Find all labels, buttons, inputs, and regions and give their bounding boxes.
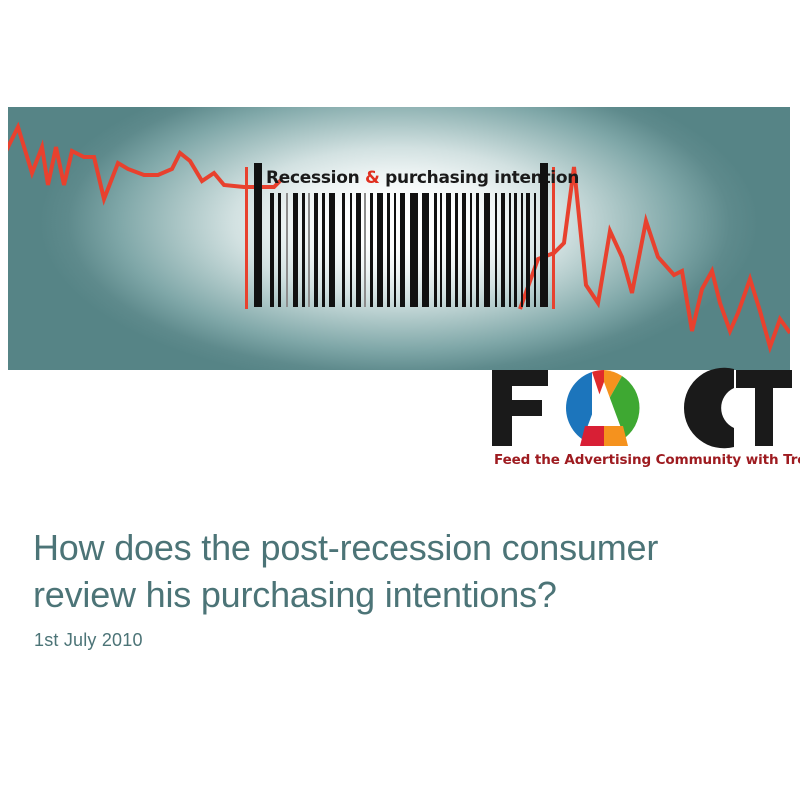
page-date: 1st July 2010 bbox=[34, 630, 143, 651]
barcode-graphic: Recession & purchasing intention bbox=[242, 161, 558, 309]
fact-logo: Feed the Advertising Community with Tren… bbox=[488, 366, 794, 478]
barcode-guard-left-icon bbox=[245, 167, 248, 309]
chart-line-left bbox=[8, 127, 282, 199]
fact-logo-tagline: Feed the Advertising Community with Tren… bbox=[494, 452, 794, 468]
page-title-line-2: review his purchasing intentions? bbox=[33, 571, 763, 618]
barcode-bars bbox=[250, 163, 550, 307]
logo-letter-a-icon bbox=[566, 370, 640, 446]
fact-wordmark-icon bbox=[488, 366, 794, 450]
hero-banner: Recession & purchasing intention bbox=[8, 107, 790, 370]
page-title: How does the post-recession consumer rev… bbox=[33, 524, 763, 618]
fact-logo-letters bbox=[488, 366, 794, 450]
page-title-line-1: How does the post-recession consumer bbox=[33, 524, 763, 571]
logo-letter-t-icon bbox=[736, 370, 792, 446]
barcode-guard-right-icon bbox=[552, 167, 555, 309]
logo-letter-f-icon bbox=[492, 370, 548, 446]
logo-letter-c-icon bbox=[684, 368, 734, 449]
chart-line-right bbox=[520, 167, 790, 347]
